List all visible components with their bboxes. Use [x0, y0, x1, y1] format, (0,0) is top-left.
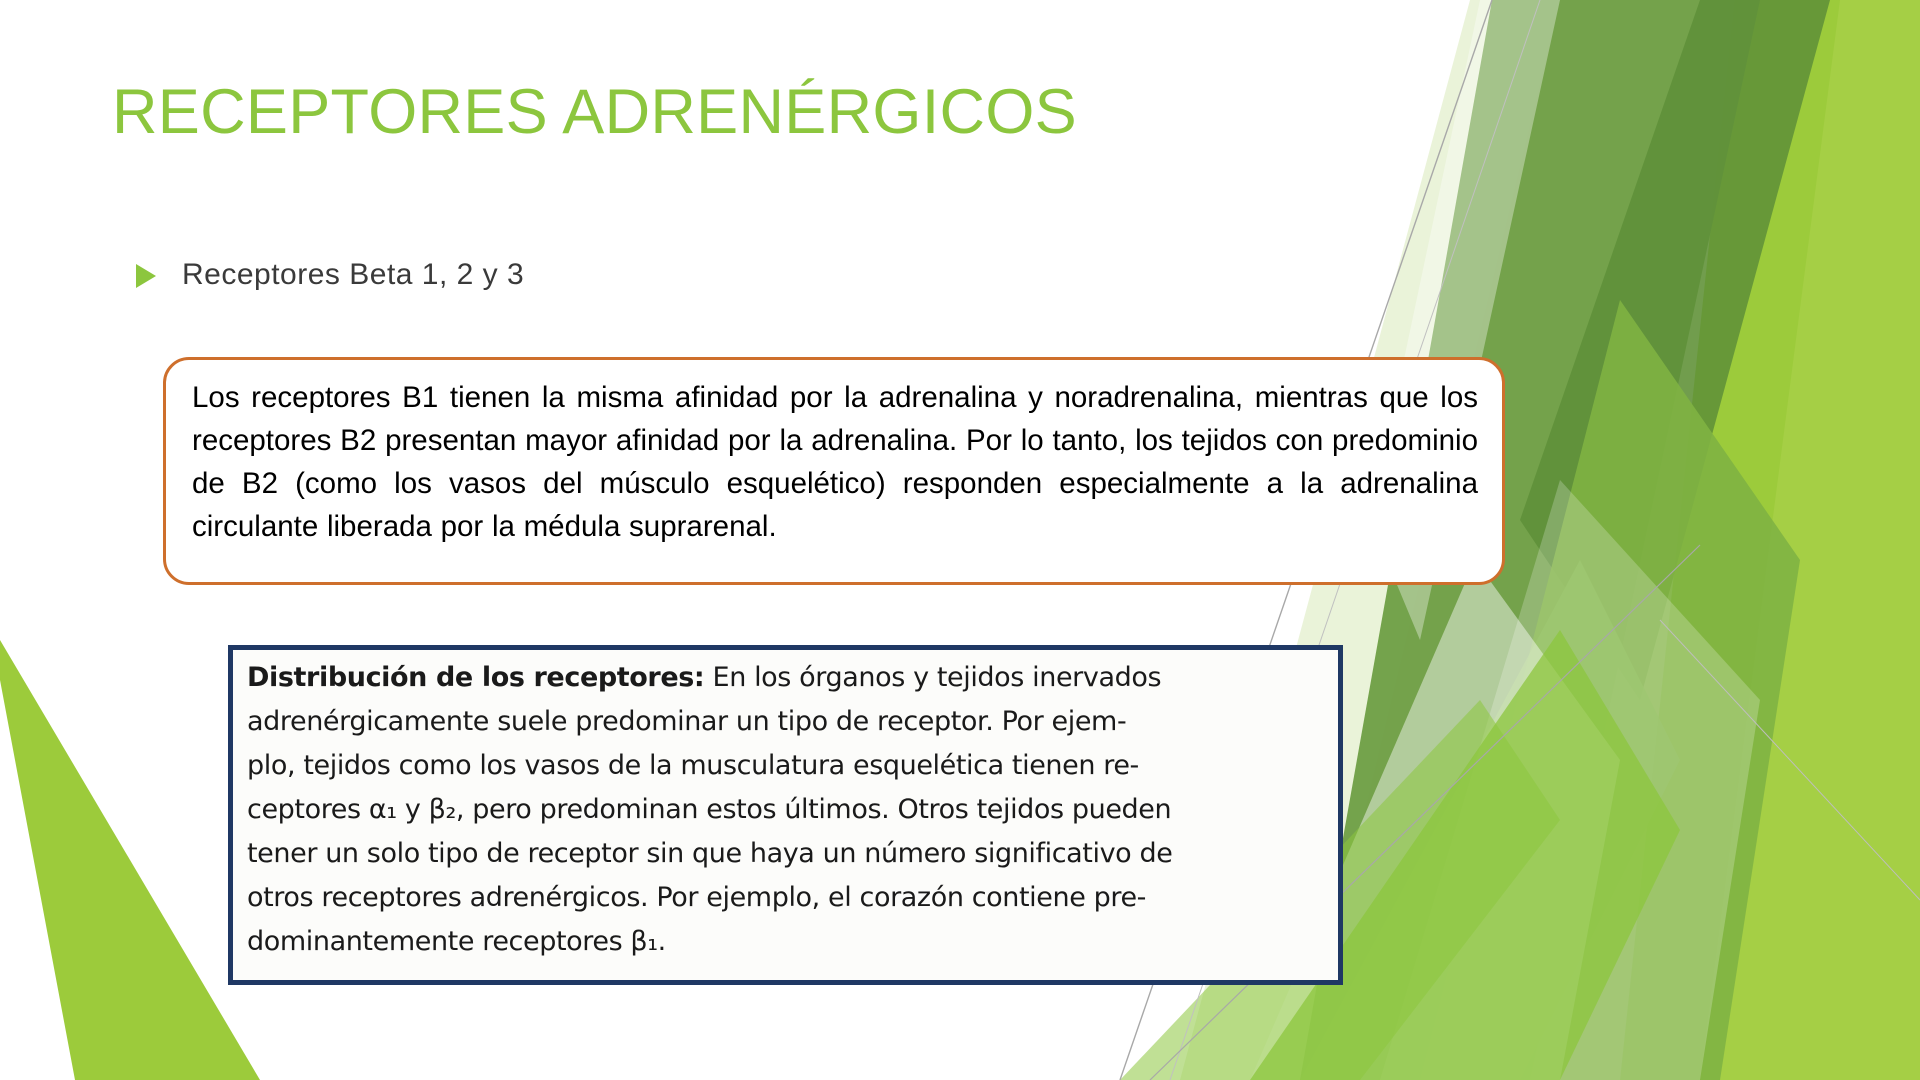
blue-callout-line-4: ceptores α₁ y β₂, pero predominan estos …	[247, 788, 1328, 832]
blue-callout-line-5: tener un solo tipo de receptor sin que h…	[247, 832, 1328, 876]
slide-canvas: RECEPTORES ADRENÉRGICOS Receptores Beta …	[0, 0, 1920, 1080]
triangle-right-bullet-icon	[136, 264, 156, 288]
page-title: RECEPTORES ADRENÉRGICOS	[112, 78, 1077, 147]
blue-callout-line-6: otros receptores adrenérgicos. Por ejemp…	[247, 876, 1328, 920]
decoration-shape-lime-right-2	[1700, 0, 1920, 1080]
orange-callout-text: Los receptores B1 tienen la misma afinid…	[192, 376, 1478, 548]
bullet-item-label: Receptores Beta 1, 2 y 3	[182, 258, 524, 292]
blue-callout-line-7: dominantemente receptores β₁.	[247, 920, 1328, 964]
blue-callout-heading: Distribución de los receptores:	[247, 662, 704, 693]
blue-callout-line-1: Distribución de los receptores: En los ó…	[247, 656, 1328, 700]
decoration-shape-mid-green-2	[1300, 560, 1680, 1080]
decoration-hairline-4	[1660, 620, 1920, 900]
blue-callout-content: Distribución de los receptores: En los ó…	[247, 656, 1328, 964]
orange-callout-box: Los receptores B1 tienen la misma afinid…	[163, 357, 1505, 585]
blue-callout-box: Distribución de los receptores: En los ó…	[228, 645, 1343, 985]
blue-callout-line-3: plo, tejidos como los vasos de la muscul…	[247, 744, 1328, 788]
decoration-shape-dark-green-2	[1520, 0, 1830, 700]
bullet-list-item: Receptores Beta 1, 2 y 3	[136, 258, 524, 292]
blue-callout-line-2: adrenérgicamente suele predominar un tip…	[247, 700, 1328, 744]
blue-callout-line-1-text: En los órganos y tejidos inervados	[713, 662, 1162, 693]
decoration-shape-lime-right	[1620, 0, 1920, 1080]
decoration-shape-bottom-left	[0, 640, 260, 1080]
